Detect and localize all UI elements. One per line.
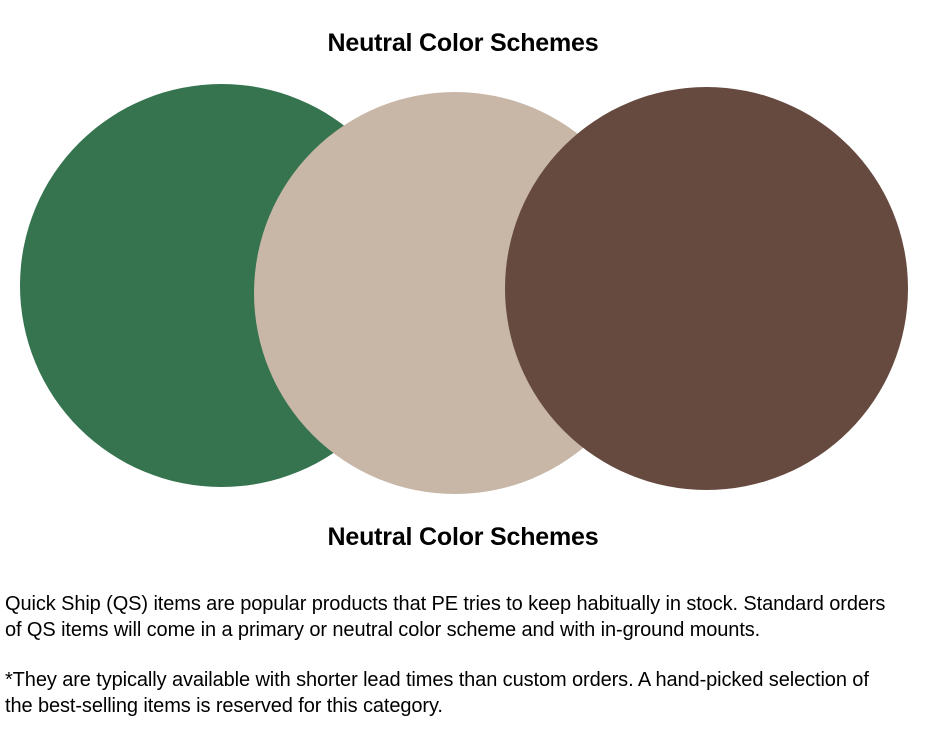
page-title-top: Neutral Color Schemes: [0, 28, 926, 58]
color-swatch-brown: [505, 87, 908, 490]
slide-page: Neutral Color Schemes Neutral Color Sche…: [0, 0, 926, 752]
color-swatch-venn-diagram: [0, 80, 926, 500]
page-title-bottom: Neutral Color Schemes: [0, 522, 926, 552]
paragraph-lead-times-note: *They are typically available with short…: [5, 668, 900, 719]
paragraph-quick-ship: Quick Ship (QS) items are popular produc…: [5, 592, 900, 643]
body-copy: Quick Ship (QS) items are popular produc…: [5, 592, 900, 719]
